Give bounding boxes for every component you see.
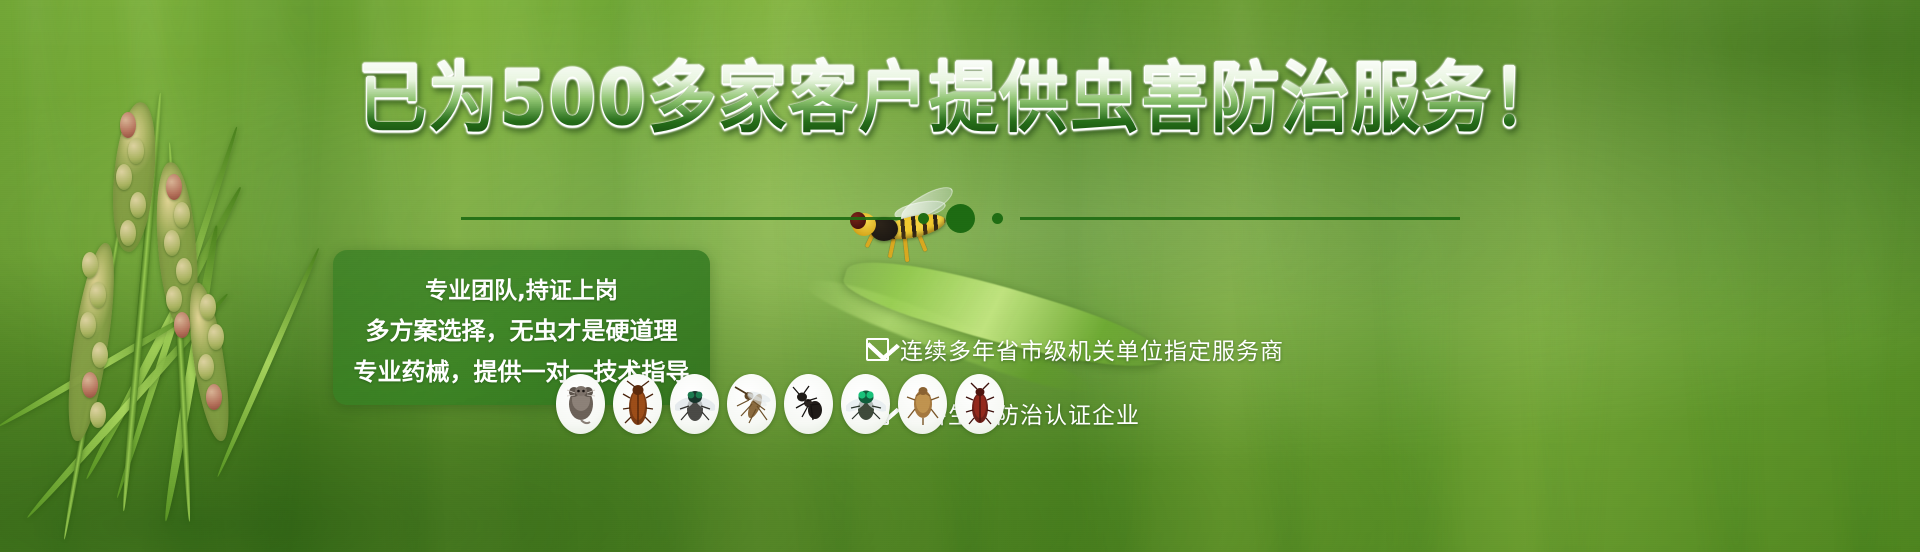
flea-icon bbox=[898, 374, 947, 434]
plant-seed-bud bbox=[90, 282, 106, 308]
plant-seed-bud bbox=[174, 312, 190, 338]
plant-seed-bud bbox=[164, 230, 180, 256]
plant-seed-bud bbox=[176, 258, 192, 284]
plant-seed-bud bbox=[90, 402, 106, 428]
divider-line-left bbox=[461, 217, 901, 220]
headline-container: 已为500多家客户提供虫害防治服务！ bbox=[0, 62, 1920, 134]
divider-line-right bbox=[1020, 217, 1460, 220]
plant-seed-bud bbox=[198, 354, 214, 380]
dot-large-icon bbox=[946, 204, 975, 233]
dot-small-right-icon bbox=[992, 213, 1003, 224]
cockroach-icon bbox=[613, 374, 662, 434]
plant-seed-bud bbox=[82, 372, 98, 398]
bedbug-icon bbox=[955, 374, 1004, 434]
plant-seed-bud bbox=[80, 312, 96, 338]
plant-seed-bud bbox=[166, 174, 182, 200]
mouse-icon bbox=[556, 374, 605, 434]
plant-seed-bud bbox=[200, 294, 216, 320]
checkbox-checked-icon bbox=[866, 338, 889, 361]
plant-seed-bud bbox=[208, 324, 224, 350]
mosquito-icon bbox=[727, 374, 776, 434]
promo-line-1: 专业团队,持证上岗 bbox=[333, 280, 710, 303]
dot-small-left-icon bbox=[918, 213, 929, 224]
divider-dots bbox=[901, 204, 1020, 233]
checklist-item: 连续多年省市级机关单位指定服务商 bbox=[866, 332, 1284, 366]
plant-seed-bud bbox=[206, 384, 222, 410]
plant-seed-bud bbox=[166, 286, 182, 312]
promo-line-2: 多方案选择，无虫才是硬道理 bbox=[333, 319, 710, 343]
plant-seed-bud bbox=[128, 138, 144, 164]
ant-icon bbox=[784, 374, 833, 434]
plant-seed-bud bbox=[82, 252, 98, 278]
fly-icon bbox=[670, 374, 719, 434]
checklist-item-label: 连续多年省市级机关单位指定服务商 bbox=[900, 332, 1284, 366]
plant-seed-bud bbox=[116, 164, 132, 190]
plant-leaf bbox=[215, 247, 322, 478]
plant-seed-bud bbox=[92, 342, 108, 368]
green-fly-icon bbox=[841, 374, 890, 434]
pest-control-hero-banner: 已为500多家客户提供虫害防治服务！ 专业团队,持证上岗 多方案选择，无虫才是硬… bbox=[0, 0, 1920, 552]
page-title: 已为500多家客户提供虫害防治服务！ bbox=[358, 56, 1562, 140]
decorative-divider bbox=[0, 204, 1920, 233]
pest-type-icon-row bbox=[556, 374, 1004, 434]
